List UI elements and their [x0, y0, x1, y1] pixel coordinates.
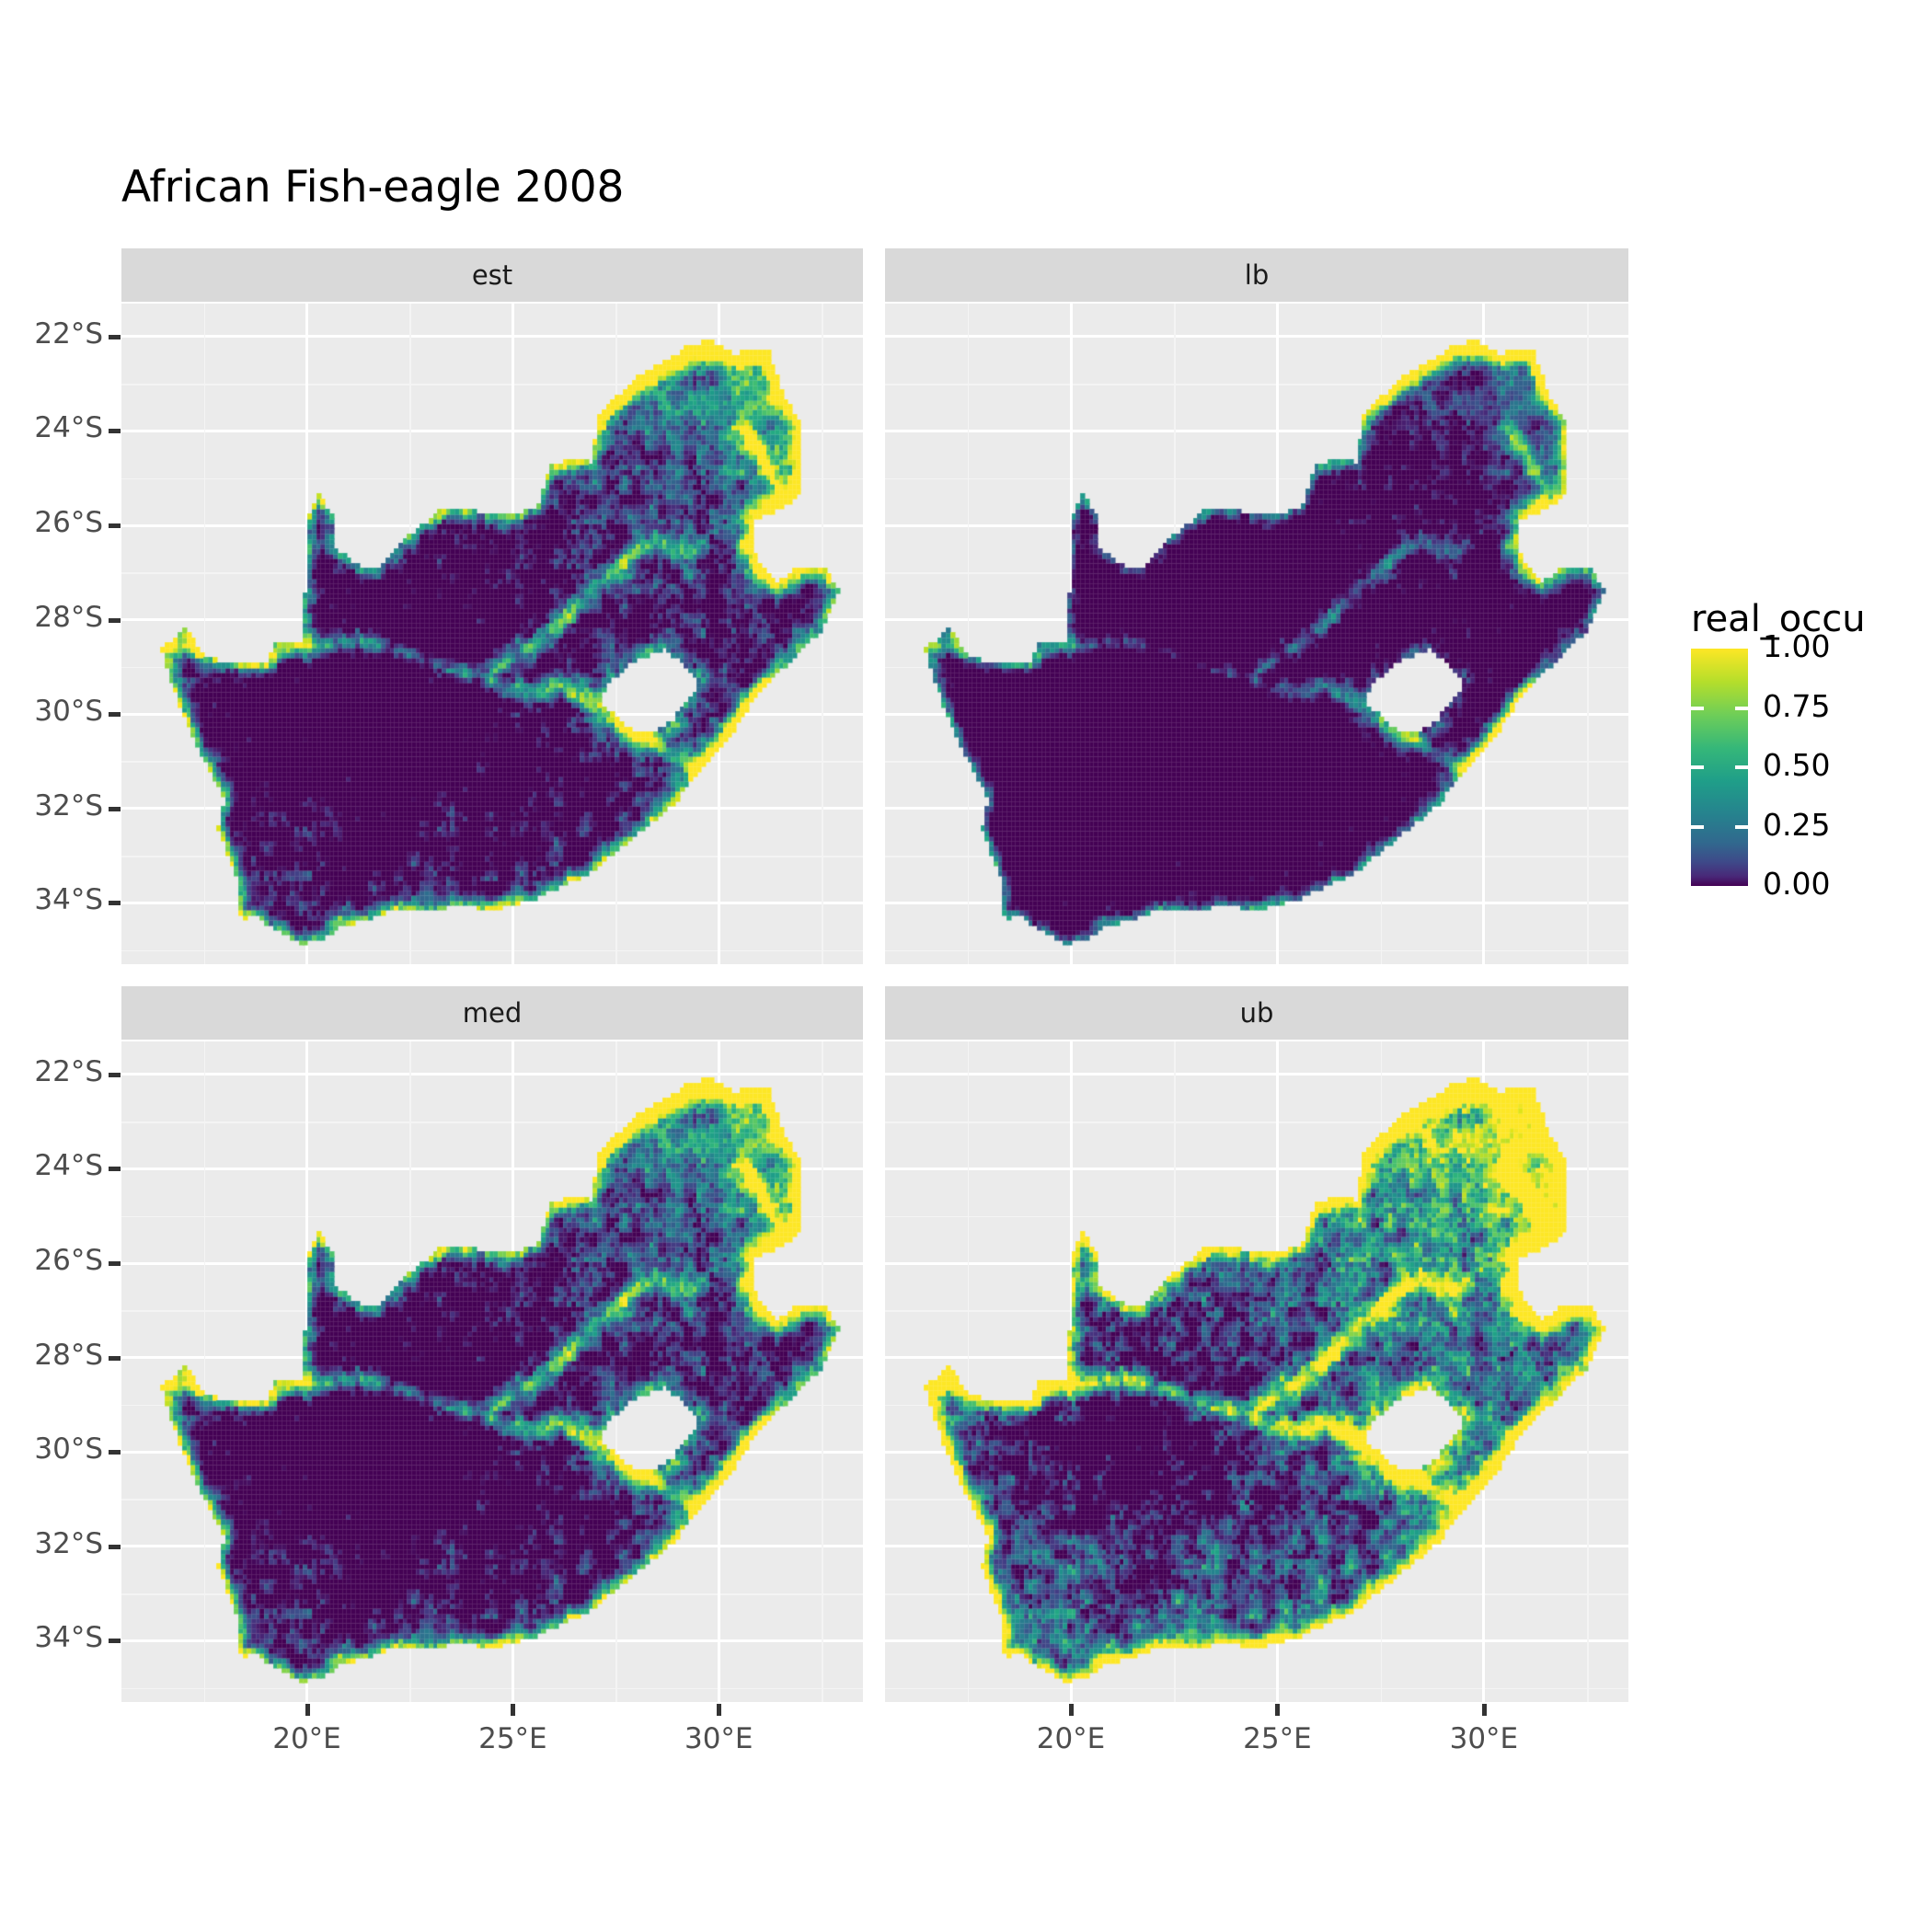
y-tick-label: 22°S [11, 317, 103, 351]
y-tick-mark [109, 1545, 121, 1549]
legend-tick-label: 0.50 [1763, 747, 1830, 783]
occupancy-raster-med [121, 1041, 863, 1702]
y-tick-mark [109, 1167, 121, 1171]
y-tick-mark [109, 1639, 121, 1643]
x-tick-label: 20°E [988, 1722, 1154, 1755]
facet-strip-label: ub [1240, 997, 1274, 1029]
y-tick-mark [109, 429, 121, 433]
y-tick-label: 34°S [11, 883, 103, 916]
x-tick-label: 20°E [224, 1722, 390, 1755]
y-tick-label: 30°S [11, 1432, 103, 1466]
legend-tick-label: 0.00 [1763, 866, 1830, 902]
y-tick-mark [109, 1073, 121, 1077]
y-tick-label: 34°S [11, 1621, 103, 1654]
y-tick-mark [109, 335, 121, 339]
y-tick-mark [109, 1356, 121, 1361]
facet-strip-ub: ub [885, 986, 1628, 1040]
y-tick-mark [109, 1261, 121, 1266]
legend-tick-mark [1691, 765, 1704, 769]
facet-panel-est [121, 304, 863, 964]
x-tick-label: 25°E [430, 1722, 595, 1755]
legend-tick-mark [1735, 707, 1748, 710]
x-tick-mark [1069, 1704, 1074, 1716]
y-tick-label: 32°S [11, 789, 103, 822]
legend-tick-mark [1735, 825, 1748, 829]
occupancy-raster-lb [885, 304, 1628, 964]
occupancy-raster-ub [885, 1041, 1628, 1702]
facet-panel-med [121, 1041, 863, 1702]
occupancy-raster-est [121, 304, 863, 964]
y-tick-mark [109, 807, 121, 811]
y-tick-mark [109, 618, 121, 623]
x-tick-mark [1482, 1704, 1487, 1716]
legend-tick-mark [1691, 825, 1704, 829]
x-tick-mark [511, 1704, 515, 1716]
legend-tick-mark [1735, 765, 1748, 769]
legend-tick-label: 0.25 [1763, 807, 1830, 843]
legend-tick-label: 1.00 [1763, 628, 1830, 664]
y-tick-mark [109, 712, 121, 717]
x-tick-label: 30°E [1401, 1722, 1567, 1755]
y-tick-label: 26°S [11, 1244, 103, 1277]
y-tick-label: 30°S [11, 695, 103, 728]
y-tick-mark [109, 1450, 121, 1455]
y-tick-mark [109, 901, 121, 905]
x-tick-label: 30°E [636, 1722, 801, 1755]
y-tick-label: 28°S [11, 1339, 103, 1372]
x-tick-mark [305, 1704, 310, 1716]
page-title: African Fish-eagle 2008 [121, 162, 624, 213]
facet-strip-label: est [472, 259, 512, 291]
y-tick-label: 24°S [11, 1149, 103, 1182]
x-tick-mark [717, 1704, 721, 1716]
facet-strip-est: est [121, 248, 863, 302]
y-tick-mark [109, 523, 121, 528]
facet-strip-lb: lb [885, 248, 1628, 302]
legend-tick-label: 0.75 [1763, 688, 1830, 724]
y-tick-label: 32°S [11, 1527, 103, 1560]
x-tick-mark [1275, 1704, 1280, 1716]
x-tick-label: 25°E [1194, 1722, 1360, 1755]
facet-strip-label: lb [1245, 259, 1269, 291]
facet-strip-label: med [463, 997, 523, 1029]
y-tick-label: 28°S [11, 601, 103, 634]
legend-tick-mark [1691, 707, 1704, 710]
facet-strip-med: med [121, 986, 863, 1040]
y-tick-label: 24°S [11, 411, 103, 444]
y-tick-label: 26°S [11, 506, 103, 539]
facet-panel-lb [885, 304, 1628, 964]
facet-panel-ub [885, 1041, 1628, 1702]
y-tick-label: 22°S [11, 1055, 103, 1088]
